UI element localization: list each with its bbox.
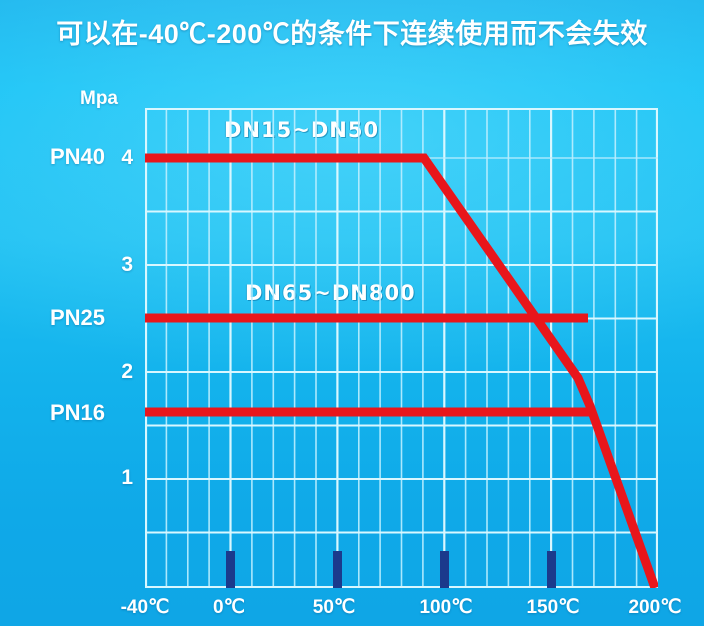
page-title: 可以在-40℃-200℃的条件下连续使用而不会失效 [0,12,704,51]
chart-svg [145,108,658,588]
y-tick-label-3: 3 [103,253,133,277]
chart-screenshot: 可以在-40℃-200℃的条件下连续使用而不会失效 Mpa 4 3 2 1 PN… [0,0,704,626]
x-tick-label-minus40: -40℃ [100,596,190,619]
y-axis-unit-label: Mpa [80,88,118,110]
x-tick-label-50: 50℃ [289,596,379,619]
tick-marker-0c [226,551,235,588]
tick-marker-100c [440,551,449,588]
pn25-label: PN25 [13,305,105,331]
pn40-label: PN40 [13,144,105,170]
x-tick-label-150: 150℃ [505,596,601,619]
y-tick-label-4: 4 [103,146,133,170]
grid-vertical-minor [166,108,636,588]
pn16-label: PN16 [13,400,105,426]
x-tick-label-0: 0℃ [184,596,274,619]
chart-plot-area [145,108,658,588]
x-axis-tick-markers [226,551,556,588]
tick-marker-150c [547,551,556,588]
y-tick-label-2: 2 [103,360,133,384]
x-tick-label-200: 200℃ [607,596,703,619]
x-tick-label-100: 100℃ [398,596,494,619]
tick-marker-50c [333,551,342,588]
y-tick-label-1: 1 [103,466,133,490]
